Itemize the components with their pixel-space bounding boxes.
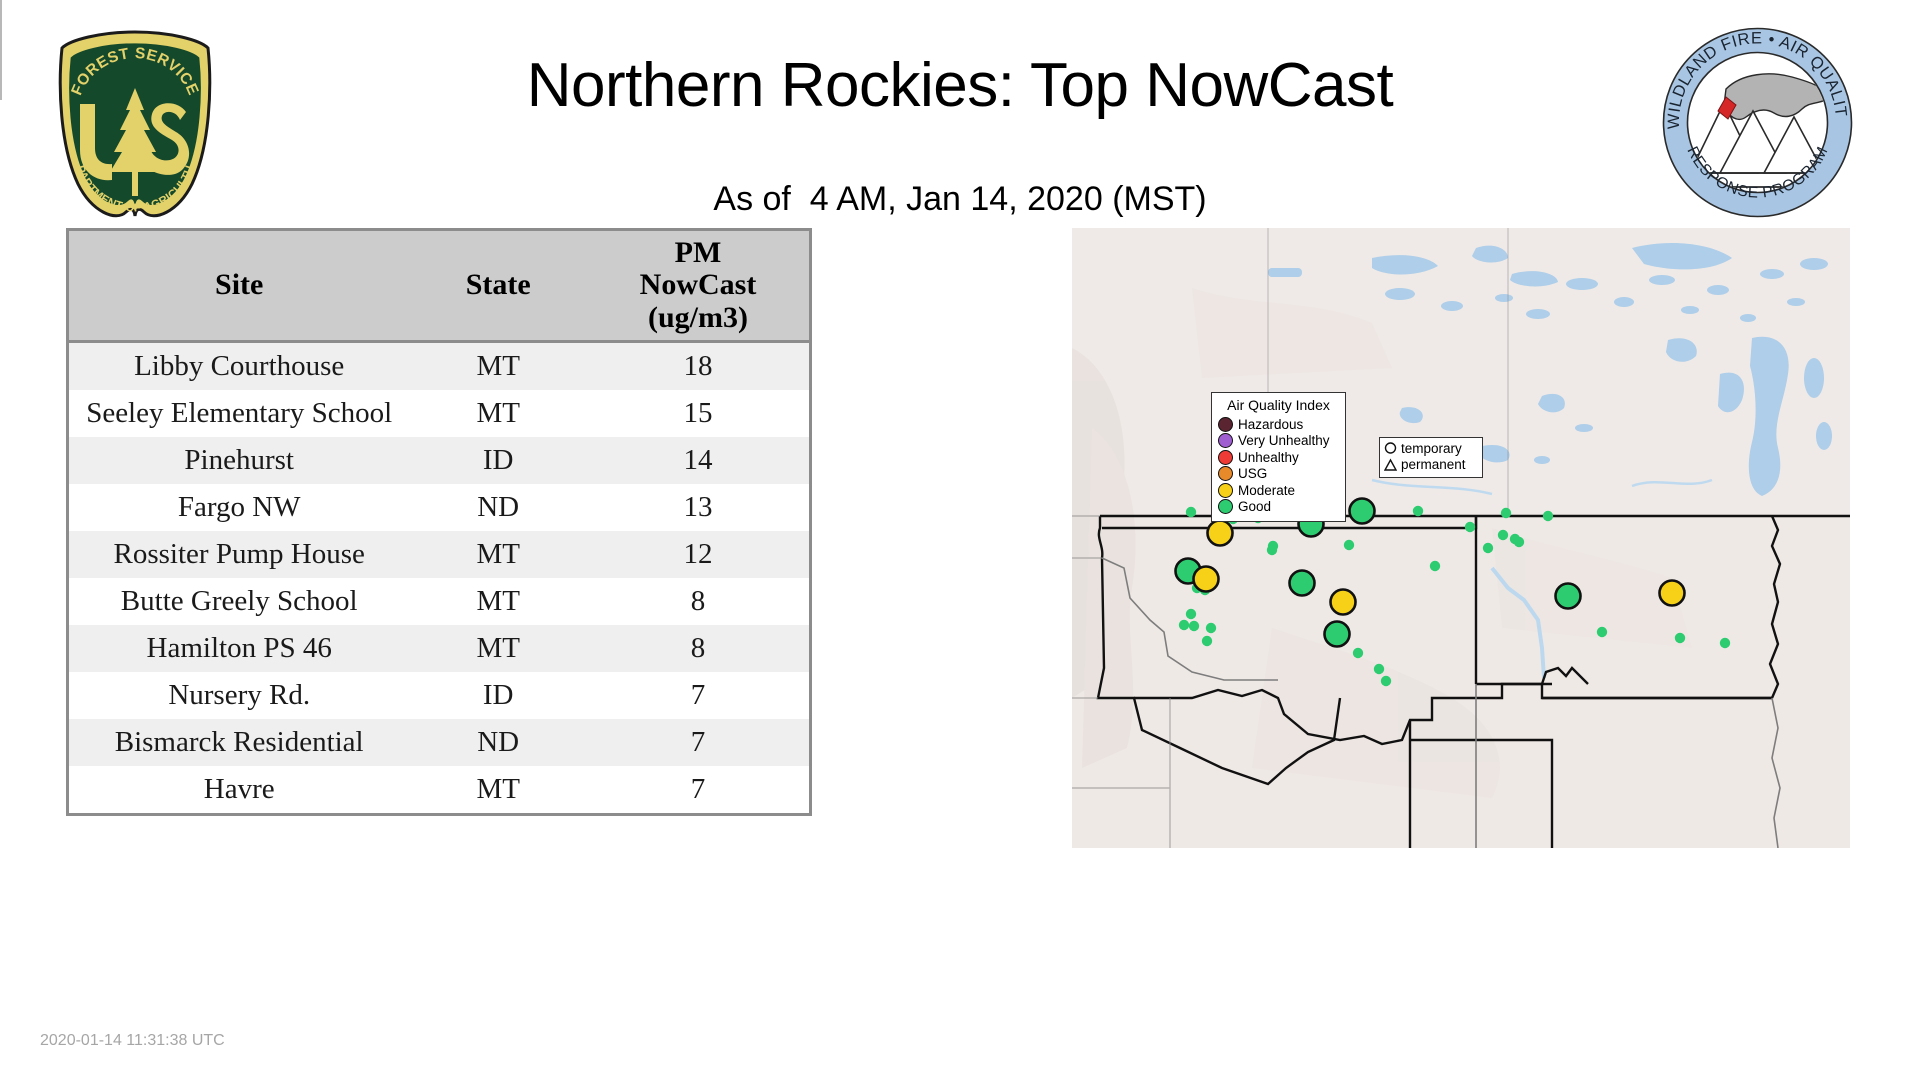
table-header-row: Site State PM NowCast (ug/m3) bbox=[69, 231, 809, 342]
page-subtitle: As of 4 AM, Jan 14, 2020 (MST) bbox=[300, 180, 1620, 219]
pm-cell: 8 bbox=[587, 625, 809, 672]
monitor-dot-small[interactable] bbox=[1514, 537, 1524, 547]
monitor-dot-small[interactable] bbox=[1543, 511, 1553, 521]
legend-row-temporary: temporary bbox=[1384, 441, 1477, 457]
monitor-dot-small[interactable] bbox=[1597, 627, 1607, 637]
table-row: Nursery Rd.ID7 bbox=[69, 672, 809, 719]
column-header-pm-line1: PM bbox=[675, 236, 722, 269]
monitor-dot-large[interactable] bbox=[1331, 590, 1356, 615]
site-cell: Rossiter Pump House bbox=[69, 531, 409, 578]
monitor-dot-small[interactable] bbox=[1465, 522, 1475, 532]
site-cell: Butte Greely School bbox=[69, 578, 409, 625]
monitor-dot-large[interactable] bbox=[1290, 571, 1315, 596]
pm-cell: 13 bbox=[587, 484, 809, 531]
table-row: PinehurstID14 bbox=[69, 437, 809, 484]
pm-cell: 18 bbox=[587, 342, 809, 391]
page-title: Northern Rockies: Top NowCast bbox=[300, 50, 1620, 121]
table-row: Butte Greely SchoolMT8 bbox=[69, 578, 809, 625]
legend-row-moderate: Moderate bbox=[1218, 482, 1339, 499]
legend-row-usg: USG bbox=[1218, 466, 1339, 483]
legend-label-temporary: temporary bbox=[1401, 442, 1462, 456]
column-header-site: Site bbox=[69, 231, 409, 342]
aqi-swatch-icon bbox=[1218, 466, 1233, 481]
pm-cell: 12 bbox=[587, 531, 809, 578]
table-row: Libby CourthouseMT18 bbox=[69, 342, 809, 391]
table-row: Bismarck ResidentialND7 bbox=[69, 719, 809, 766]
monitor-dot-small[interactable] bbox=[1675, 633, 1685, 643]
monitor-type-legend: temporary permanent bbox=[1379, 437, 1483, 478]
state-cell: ND bbox=[409, 484, 587, 531]
table-row: Rossiter Pump HouseMT12 bbox=[69, 531, 809, 578]
pm-cell: 7 bbox=[587, 672, 809, 719]
usfs-shield-logo: FOREST SERVICE DEPARTMENT OF AGRICULTURE bbox=[50, 26, 220, 236]
legend-label: Moderate bbox=[1238, 484, 1295, 498]
legend-row-very-unhealthy: Very Unhealthy bbox=[1218, 433, 1339, 450]
aqi-swatch-icon bbox=[1218, 483, 1233, 498]
monitor-dot-large[interactable] bbox=[1325, 622, 1350, 647]
monitor-dot-small[interactable] bbox=[1501, 508, 1511, 518]
monitor-dot-small[interactable] bbox=[1189, 621, 1199, 631]
monitor-dot-small[interactable] bbox=[1381, 676, 1391, 686]
legend-row-unhealthy: Unhealthy bbox=[1218, 449, 1339, 466]
monitor-dot-small[interactable] bbox=[1374, 664, 1384, 674]
state-cell: MT bbox=[409, 342, 587, 391]
legend-title: Air Quality Index bbox=[1218, 398, 1339, 412]
column-header-pm-line3: (ug/m3) bbox=[648, 301, 748, 334]
state-cell: ID bbox=[409, 672, 587, 719]
legend-label: Very Unhealthy bbox=[1238, 434, 1330, 448]
monitor-dot-small[interactable] bbox=[1720, 638, 1730, 648]
legend-row-hazardous: Hazardous bbox=[1218, 416, 1339, 433]
column-header-pm-nowcast: PM NowCast (ug/m3) bbox=[587, 231, 809, 342]
state-cell: MT bbox=[409, 578, 587, 625]
aqi-swatch-icon bbox=[1218, 433, 1233, 448]
top-nowcast-table: Site State PM NowCast (ug/m3) Libby Cour… bbox=[66, 228, 812, 816]
legend-label: Good bbox=[1238, 500, 1271, 514]
pm-cell: 15 bbox=[587, 390, 809, 437]
site-cell: Libby Courthouse bbox=[69, 342, 409, 391]
monitor-dot-small[interactable] bbox=[1483, 543, 1493, 553]
monitor-dot-small[interactable] bbox=[1206, 623, 1216, 633]
page-left-edge-rule bbox=[0, 0, 2, 100]
legend-label: Unhealthy bbox=[1238, 451, 1299, 465]
pm-cell: 7 bbox=[587, 766, 809, 813]
map-canvas bbox=[1072, 228, 1850, 848]
site-cell: Hamilton PS 46 bbox=[69, 625, 409, 672]
monitor-dot-small[interactable] bbox=[1186, 609, 1196, 619]
state-cell: MT bbox=[409, 766, 587, 813]
aqi-swatch-icon bbox=[1218, 499, 1233, 514]
state-cell: ND bbox=[409, 719, 587, 766]
legend-row-good: Good bbox=[1218, 499, 1339, 516]
monitor-dot-large[interactable] bbox=[1660, 581, 1685, 606]
table-row: Hamilton PS 46MT8 bbox=[69, 625, 809, 672]
monitor-dot-small[interactable] bbox=[1344, 540, 1354, 550]
monitor-dot-large[interactable] bbox=[1208, 521, 1233, 546]
site-cell: Nursery Rd. bbox=[69, 672, 409, 719]
footer-timestamp: 2020-01-14 11:31:38 UTC bbox=[40, 1032, 225, 1050]
monitor-dot-large[interactable] bbox=[1194, 567, 1219, 592]
table-row: Seeley Elementary SchoolMT15 bbox=[69, 390, 809, 437]
circle-marker-icon bbox=[1384, 442, 1397, 456]
monitor-dot-small[interactable] bbox=[1430, 561, 1440, 571]
table-row: HavreMT7 bbox=[69, 766, 809, 813]
monitor-dot-large[interactable] bbox=[1350, 499, 1375, 524]
aqi-swatch-icon bbox=[1218, 417, 1233, 432]
legend-label-permanent: permanent bbox=[1401, 458, 1466, 472]
site-cell: Pinehurst bbox=[69, 437, 409, 484]
monitor-dot-small[interactable] bbox=[1267, 545, 1277, 555]
state-cell: MT bbox=[409, 625, 587, 672]
site-cell: Fargo NW bbox=[69, 484, 409, 531]
monitor-dot-small[interactable] bbox=[1498, 530, 1508, 540]
pm-cell: 7 bbox=[587, 719, 809, 766]
air-quality-index-legend: Air Quality Index HazardousVery Unhealth… bbox=[1211, 392, 1346, 522]
monitor-dot-small[interactable] bbox=[1353, 648, 1363, 658]
legend-row-permanent: permanent bbox=[1384, 457, 1477, 473]
monitor-dot-small[interactable] bbox=[1186, 507, 1196, 517]
monitor-dot-small[interactable] bbox=[1202, 636, 1212, 646]
table-row: Fargo NWND13 bbox=[69, 484, 809, 531]
monitor-dot-small[interactable] bbox=[1179, 620, 1189, 630]
wfaqrp-roundel-logo: WILDLAND FIRE • AIR QUALITY RESPONSE PRO… bbox=[1660, 25, 1855, 220]
site-cell: Seeley Elementary School bbox=[69, 390, 409, 437]
pm-cell: 14 bbox=[587, 437, 809, 484]
nowcast-map[interactable] bbox=[1072, 228, 1850, 848]
state-cell: MT bbox=[409, 531, 587, 578]
site-cell: Havre bbox=[69, 766, 409, 813]
aqi-swatch-icon bbox=[1218, 450, 1233, 465]
triangle-marker-icon bbox=[1384, 458, 1397, 472]
monitor-dot-small[interactable] bbox=[1413, 506, 1423, 516]
column-header-state: State bbox=[409, 231, 587, 342]
state-cell: ID bbox=[409, 437, 587, 484]
legend-label: Hazardous bbox=[1238, 418, 1303, 432]
column-header-pm-line2: NowCast bbox=[640, 268, 757, 301]
site-cell: Bismarck Residential bbox=[69, 719, 409, 766]
legend-label: USG bbox=[1238, 467, 1267, 481]
state-cell: MT bbox=[409, 390, 587, 437]
pm-cell: 8 bbox=[587, 578, 809, 625]
monitor-dot-large[interactable] bbox=[1556, 584, 1581, 609]
